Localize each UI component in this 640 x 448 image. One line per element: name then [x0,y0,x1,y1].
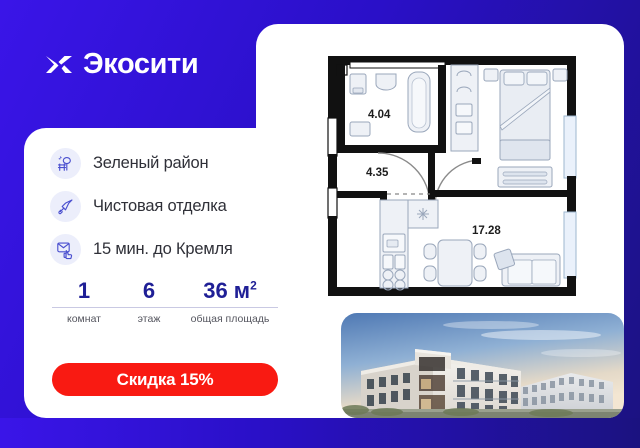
listing-card: Экосити Зеленый район [0,0,640,448]
feature-list: Зеленый район Чистовая отделка [50,142,290,271]
message-thumbup-icon [50,234,81,265]
feature-item-finishing: Чистовая отделка [50,185,290,228]
feature-label: 15 мин. до Кремля [93,240,233,259]
room-area-bathroom: 4.04 [368,109,391,121]
room-area-hallway: 4.35 [366,167,389,179]
trowel-icon [50,191,81,222]
tree-bench-icon [50,148,81,179]
stat-value: 6 [143,278,155,303]
stat-value: 36 м2 [203,278,257,303]
floor-plan[interactable]: 4.04 10.87 4.35 [320,48,584,304]
feature-label: Зеленый район [93,154,208,173]
x-mark-logo-icon [44,52,74,78]
stat-area-unit: 2 [250,279,257,293]
stat-label: комнат [52,313,116,326]
feature-item-green-district: Зеленый район [50,142,290,185]
stats-block: 1 6 36 м2 комнат этаж общая площадь [52,280,278,326]
stat-area: 36 м2 [182,280,278,303]
room-area-living: 17.28 [472,225,501,237]
stat-value: 1 [78,278,90,303]
discount-button[interactable]: Скидка 15% [52,363,278,396]
feature-label: Чистовая отделка [93,197,227,216]
brand-name: Экосити [83,50,198,79]
stat-label: общая площадь [182,313,278,326]
building-photo[interactable] [341,313,624,418]
stats-labels-row: комнат этаж общая площадь [52,308,278,326]
stat-floor: 6 [116,280,182,303]
stat-rooms: 1 [52,280,116,303]
stats-values-row: 1 6 36 м2 [52,280,278,307]
bottom-gradient-bar [0,418,640,448]
stat-label: этаж [116,313,182,326]
feature-item-kremlin-distance: 15 мин. до Кремля [50,228,290,271]
stat-area-value: 36 м [203,278,250,303]
brand-logo[interactable]: Экосити [44,50,198,79]
